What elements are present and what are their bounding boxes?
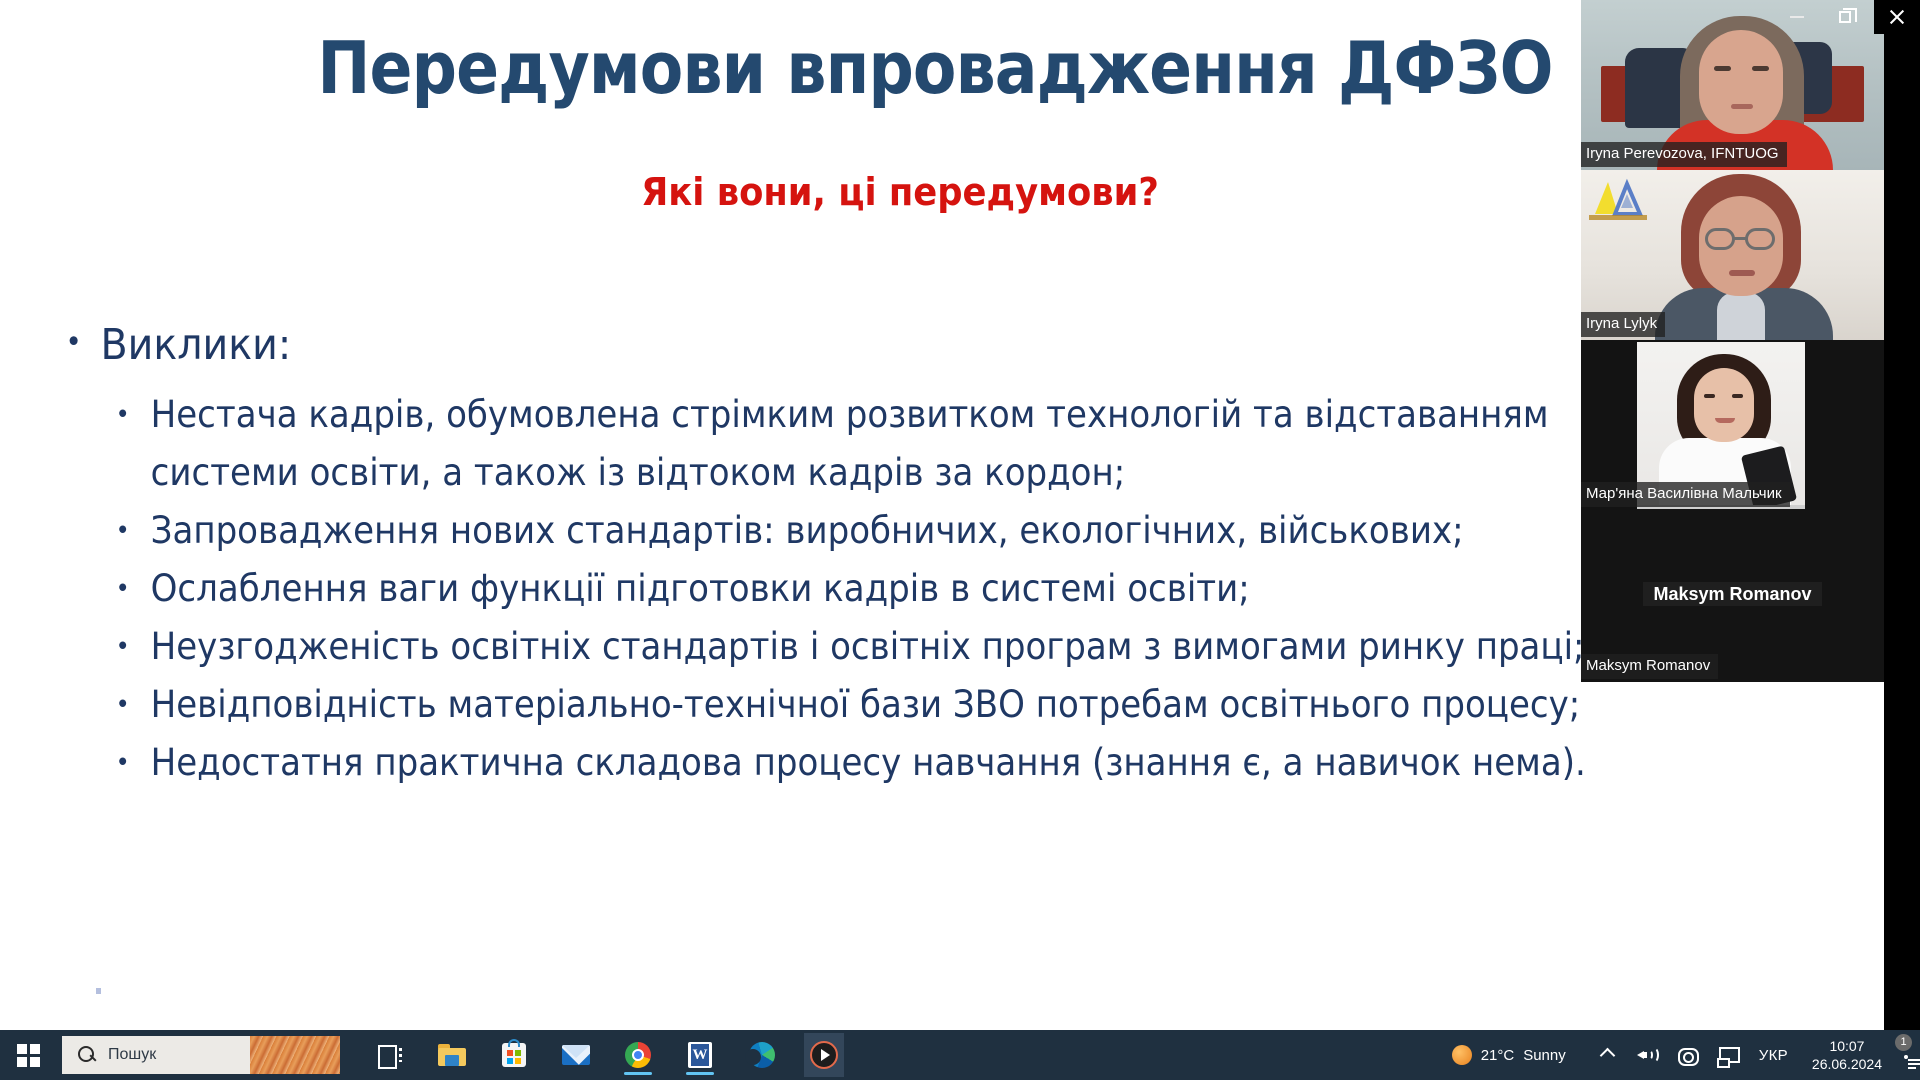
video-person-mouth	[1729, 270, 1755, 276]
sun-icon	[1452, 1045, 1472, 1065]
mail-envelope-icon	[562, 1045, 590, 1065]
clock-time: 10:07	[1812, 1037, 1882, 1055]
weather-widget[interactable]: 21°C Sunny	[1452, 1045, 1588, 1065]
bullet-line: Нестача кадрів, обумовлена стрімким розв…	[151, 386, 1640, 444]
bullet-line: системи освіти, а також із відтоком кадр…	[151, 444, 1640, 502]
search-thumbnail-image	[250, 1036, 340, 1074]
bullet-item: Неузгодженість освітніх стандартів і осв…	[112, 618, 1639, 676]
store-bag-icon	[502, 1043, 526, 1067]
video-conference-panel[interactable]: Iryna Perevozova, IFNTUOG Iryna Lylyk	[1581, 0, 1884, 682]
display-settings-button[interactable]	[1707, 1047, 1747, 1064]
video-person-glasses	[1705, 228, 1735, 250]
taskbar: Пошук	[0, 1030, 1920, 1080]
word-icon: W	[688, 1042, 712, 1068]
volume-button[interactable]	[1627, 1046, 1667, 1064]
camera-icon	[1677, 1047, 1697, 1063]
right-black-strip	[1884, 0, 1920, 1030]
monitor-icon	[1717, 1047, 1737, 1064]
media-player-button[interactable]	[804, 1033, 844, 1077]
video-person-face	[1699, 30, 1783, 134]
active-indicator	[686, 1072, 714, 1075]
video-person-glasses-bridge	[1734, 237, 1746, 240]
video-person-mouth	[1731, 104, 1753, 109]
weather-temperature: 21°C	[1481, 1047, 1515, 1064]
maximize-button[interactable]	[1822, 0, 1868, 34]
participant-name-label: Iryna Lylyk	[1581, 312, 1665, 337]
video-tile-participant[interactable]: Maksym Romanov Maksym Romanov	[1581, 510, 1884, 682]
camera-status-button[interactable]	[1667, 1047, 1707, 1063]
avatar-face	[1694, 368, 1754, 442]
avatar-eye	[1704, 394, 1715, 398]
taskbar-buttons: W	[370, 1033, 844, 1077]
show-hidden-icons-button[interactable]	[1588, 1050, 1627, 1061]
clock[interactable]: 10:07 26.06.2024	[1800, 1037, 1894, 1073]
participant-name-label: Мар'яна Василівна Мальчик	[1581, 482, 1790, 507]
close-icon	[1888, 8, 1906, 26]
participant-centered-name: Maksym Romanov	[1581, 584, 1884, 605]
start-button[interactable]	[0, 1030, 56, 1080]
video-person-eye	[1752, 66, 1769, 71]
slide-artifact-dot	[96, 988, 101, 994]
notification-count-badge: 1	[1895, 1034, 1912, 1051]
bullet-level1: Виклики:	[60, 318, 1753, 372]
bullet-item: Невідповідність матеріально-технічної ба…	[112, 676, 1639, 734]
minimize-button[interactable]	[1774, 0, 1820, 34]
organization-logo-icon	[1591, 178, 1643, 216]
video-tile-participant[interactable]: Мар'яна Василівна Мальчик	[1581, 340, 1884, 510]
edge-icon	[749, 1042, 775, 1068]
slide-title: Передумови впровадження ДФЗО	[112, 26, 1758, 110]
task-view-icon	[378, 1045, 402, 1065]
chrome-button[interactable]	[618, 1033, 658, 1077]
avatar-mouth	[1715, 418, 1735, 423]
minimize-icon	[1790, 16, 1804, 18]
language-indicator[interactable]: УКР	[1747, 1047, 1800, 1064]
slide-subtitle: Які вони, ці передумови?	[63, 168, 1737, 216]
close-button[interactable]	[1874, 0, 1920, 34]
participant-centered-name-text: Maksym Romanov	[1643, 582, 1821, 606]
active-indicator	[624, 1072, 652, 1075]
participant-name-label: Maksym Romanov	[1581, 654, 1718, 679]
system-tray: 21°C Sunny УКР 10:0	[1452, 1030, 1920, 1080]
video-tile-participant[interactable]: Iryna Lylyk	[1581, 170, 1884, 340]
play-circle-icon	[810, 1041, 838, 1069]
word-button[interactable]: W	[680, 1033, 720, 1077]
organization-logo-text	[1589, 215, 1647, 220]
chevron-up-icon	[1599, 1047, 1615, 1063]
file-explorer-button[interactable]	[432, 1033, 472, 1077]
bullet-item: Запровадження нових стандартів: виробнич…	[112, 502, 1639, 560]
windows-logo-icon	[17, 1044, 40, 1067]
avatar-eye	[1732, 394, 1743, 398]
video-person-glasses	[1745, 228, 1775, 250]
language-label: УКР	[1759, 1047, 1788, 1064]
task-view-button[interactable]	[370, 1033, 410, 1077]
search-input[interactable]: Пошук	[62, 1036, 340, 1074]
video-person-eye	[1714, 66, 1731, 71]
edge-button[interactable]	[742, 1033, 782, 1077]
clock-date: 26.06.2024	[1812, 1055, 1882, 1073]
video-person-shirt	[1717, 292, 1765, 340]
chrome-icon	[625, 1042, 651, 1068]
window-controls	[1770, 0, 1920, 34]
screen: Передумови впровадження ДФЗО Які вони, ц…	[0, 0, 1920, 1080]
weather-description: Sunny	[1523, 1047, 1566, 1064]
mail-button[interactable]	[556, 1033, 596, 1077]
bullet-item: Нестача кадрів, обумовлена стрімким розв…	[112, 386, 1639, 502]
folder-icon	[438, 1044, 466, 1066]
microsoft-store-button[interactable]	[494, 1033, 534, 1077]
search-placeholder: Пошук	[108, 1046, 156, 1064]
search-icon	[78, 1046, 96, 1064]
participant-name-label: Iryna Perevozova, IFNTUOG	[1581, 142, 1787, 167]
bullet-item: Недостатня практична складова процесу на…	[112, 734, 1639, 792]
speaker-icon	[1637, 1046, 1657, 1064]
bullet-item: Ослаблення ваги функції підготовки кадрі…	[112, 560, 1639, 618]
restore-icon	[1839, 11, 1851, 23]
